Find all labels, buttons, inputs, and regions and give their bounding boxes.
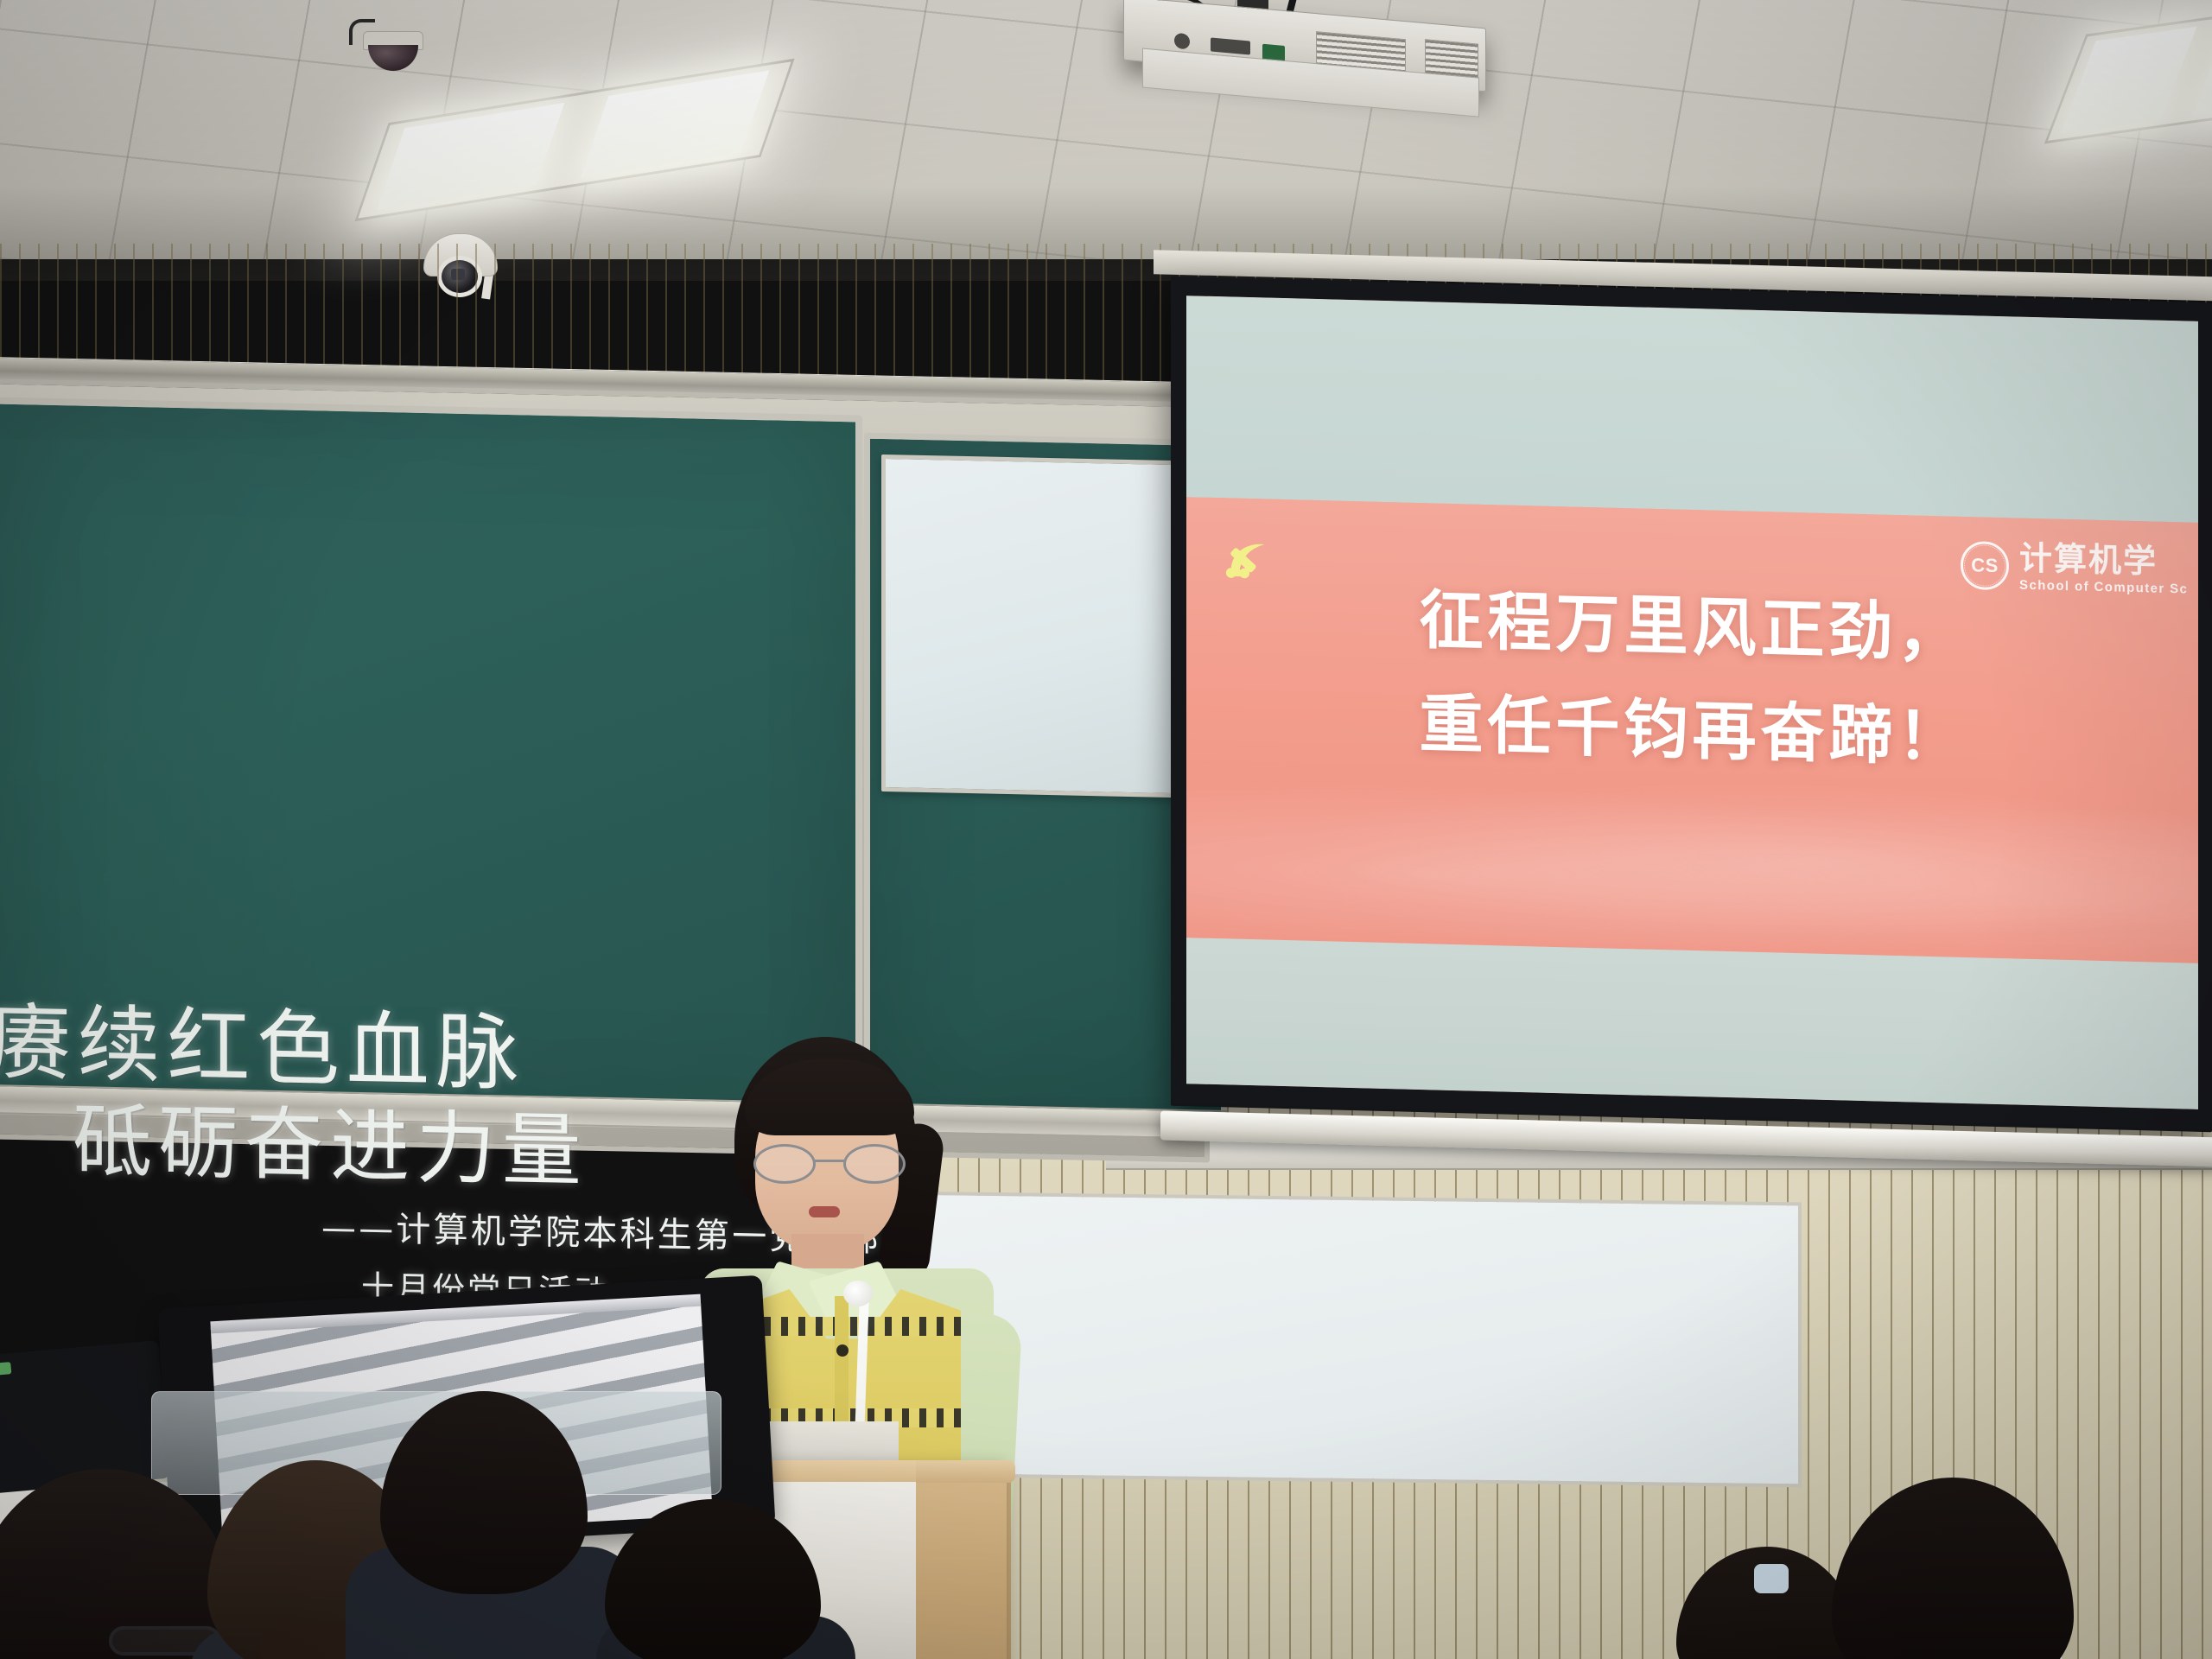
dome-security-camera-icon <box>363 31 423 67</box>
slide-top-band <box>1186 296 2198 522</box>
glasses-lens <box>753 1144 816 1184</box>
projection-screen: CS 计算机学 School of Computer Sc 征程万里风正劲， 重… <box>1171 276 2212 1133</box>
microphone-head-icon[interactable] <box>843 1281 873 1306</box>
logo-chinese-name: 计算机学 <box>2019 542 2188 579</box>
ceiling-projector <box>1123 0 1486 106</box>
classroom-scene: 赓续红色血脉 砥砺奋进力量 ——计算机学院本科生第一党支部 十月份党日活动 <box>0 0 2212 1659</box>
vest-button <box>836 1344 849 1357</box>
glasses-bridge <box>814 1160 845 1162</box>
slide-bottom-band <box>1186 938 2198 1109</box>
slide-headline: 征程万里风正劲， 重任千钧再奋蹄！ <box>1186 563 2198 796</box>
lower-whiteboard-panel[interactable] <box>894 1192 1802 1488</box>
camera-dome <box>368 45 418 71</box>
speaker-glasses-icon <box>752 1144 907 1184</box>
projector-port <box>1174 33 1190 50</box>
hair-clip-icon <box>1754 1564 1789 1593</box>
projector-vga-port <box>1211 37 1250 54</box>
monitor-indicator <box>0 1362 11 1376</box>
slide-background-photo <box>1186 765 2198 963</box>
presentation-slide: CS 计算机学 School of Computer Sc 征程万里风正劲， 重… <box>1186 296 2198 1109</box>
sliding-whiteboard-panel[interactable] <box>881 454 1215 798</box>
speaker-mouth <box>809 1206 840 1217</box>
blackboard-headline-line2: 砥砺奋进力量 <box>73 1077 588 1202</box>
glasses-lens <box>843 1144 906 1184</box>
light-tube <box>2192 8 2212 115</box>
